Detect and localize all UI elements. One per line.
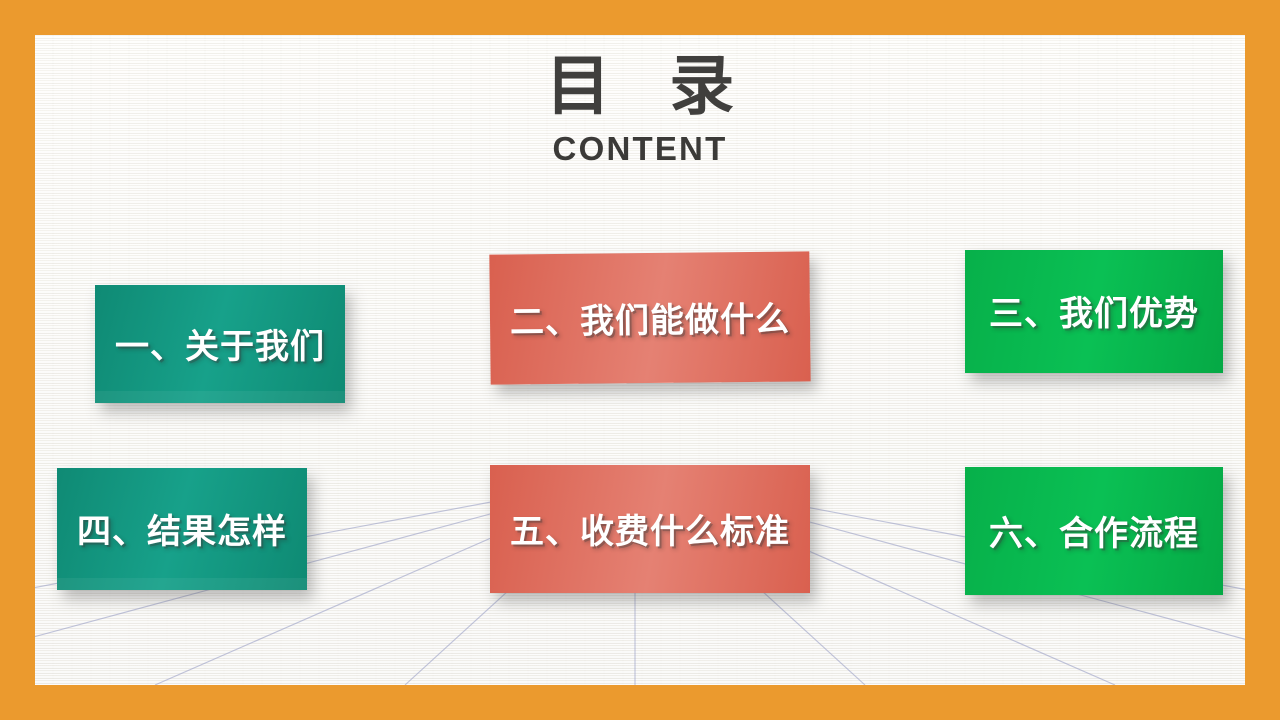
content-item-4-label: 四、结果怎样 [57,504,307,555]
title-block: 目 录 CONTENT [35,53,1245,168]
slide-canvas: 目 录 CONTENT 一、关于我们 二、我们能做什么 三、我们优势 四、结果怎… [35,35,1245,685]
page-subtitle: CONTENT [35,130,1245,168]
content-item-2-label: 二、我们能做什么 [490,291,811,345]
content-item-6[interactable]: 六、合作流程 [965,467,1223,595]
page-title: 目 录 [35,53,1245,121]
content-item-6-label: 六、合作流程 [965,506,1223,557]
content-item-1[interactable]: 一、关于我们 [95,285,345,403]
content-item-2[interactable]: 二、我们能做什么 [489,251,810,384]
content-item-3-label: 三、我们优势 [965,286,1223,337]
content-item-4[interactable]: 四、结果怎样 [57,468,307,590]
content-item-3[interactable]: 三、我们优势 [965,250,1223,373]
slide-root: 目 录 CONTENT 一、关于我们 二、我们能做什么 三、我们优势 四、结果怎… [0,0,1280,720]
content-item-5[interactable]: 五、收费什么标准 [490,465,810,593]
content-item-5-label: 五、收费什么标准 [490,504,810,555]
content-item-1-label: 一、关于我们 [95,319,345,370]
